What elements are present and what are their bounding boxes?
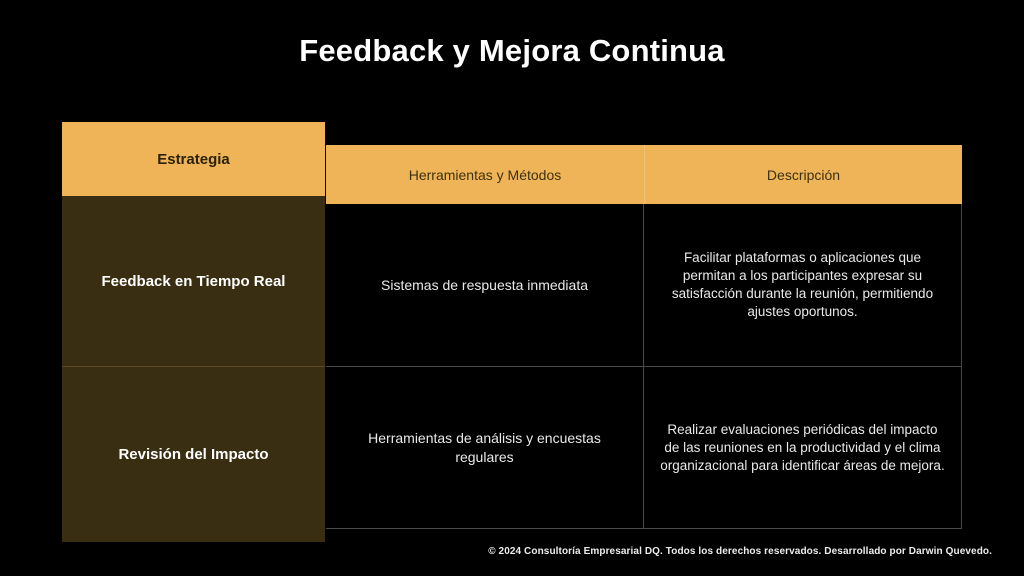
table-cell-tools-text-row-1: Herramientas de análisis y encuestas reg… bbox=[342, 429, 627, 467]
table-cell-description-text-row-0: Facilitar plataformas o aplicaciones que… bbox=[660, 249, 945, 321]
table-header-cell-estrategia: Estrategia bbox=[62, 122, 325, 196]
table-column-strategy: Estrategia Feedback en Tiempo Real Revis… bbox=[62, 122, 325, 542]
comparison-table: Estrategia Feedback en Tiempo Real Revis… bbox=[62, 122, 962, 542]
slide-canvas: Feedback y Mejora Continua Estrategia Fe… bbox=[0, 0, 1024, 576]
table-header-label-estrategia: Estrategia bbox=[157, 151, 230, 168]
table-cell-description-row-1: Realizar evaluaciones periódicas del imp… bbox=[644, 367, 962, 528]
table-cell-tools-row-1: Herramientas de análisis y encuestas reg… bbox=[326, 367, 644, 528]
page-title: Feedback y Mejora Continua bbox=[0, 30, 1024, 72]
table-row: Herramientas de análisis y encuestas reg… bbox=[326, 366, 962, 529]
table-header-row: Herramientas y Métodos Descripción bbox=[326, 145, 962, 204]
table-cell-tools-text-row-0: Sistemas de respuesta inmediata bbox=[381, 276, 588, 295]
footer-copyright: © 2024 Consultoría Empresarial DQ. Todos… bbox=[0, 546, 992, 557]
table-body: Sistemas de respuesta inmediata Facilita… bbox=[326, 204, 962, 527]
table-cell-strategy-label-row-0: Feedback en Tiempo Real bbox=[102, 271, 286, 292]
table-cell-strategy-row-1: Revisión del Impacto bbox=[62, 366, 325, 542]
table-cell-strategy-row-0: Feedback en Tiempo Real bbox=[62, 196, 325, 366]
table-header-label-descripcion: Descripción bbox=[767, 167, 840, 183]
table-cell-tools-row-0: Sistemas de respuesta inmediata bbox=[326, 204, 644, 366]
table-header-cell-descripcion: Descripción bbox=[644, 145, 962, 204]
table-header-cell-herramientas: Herramientas y Métodos bbox=[326, 145, 644, 204]
table-columns-detail: Herramientas y Métodos Descripción Siste… bbox=[326, 145, 962, 527]
table-cell-description-text-row-1: Realizar evaluaciones periódicas del imp… bbox=[660, 421, 945, 475]
table-header-label-herramientas: Herramientas y Métodos bbox=[409, 167, 562, 183]
table-row: Sistemas de respuesta inmediata Facilita… bbox=[326, 204, 962, 366]
table-cell-strategy-label-row-1: Revisión del Impacto bbox=[118, 444, 268, 465]
table-cell-description-row-0: Facilitar plataformas o aplicaciones que… bbox=[644, 204, 962, 366]
